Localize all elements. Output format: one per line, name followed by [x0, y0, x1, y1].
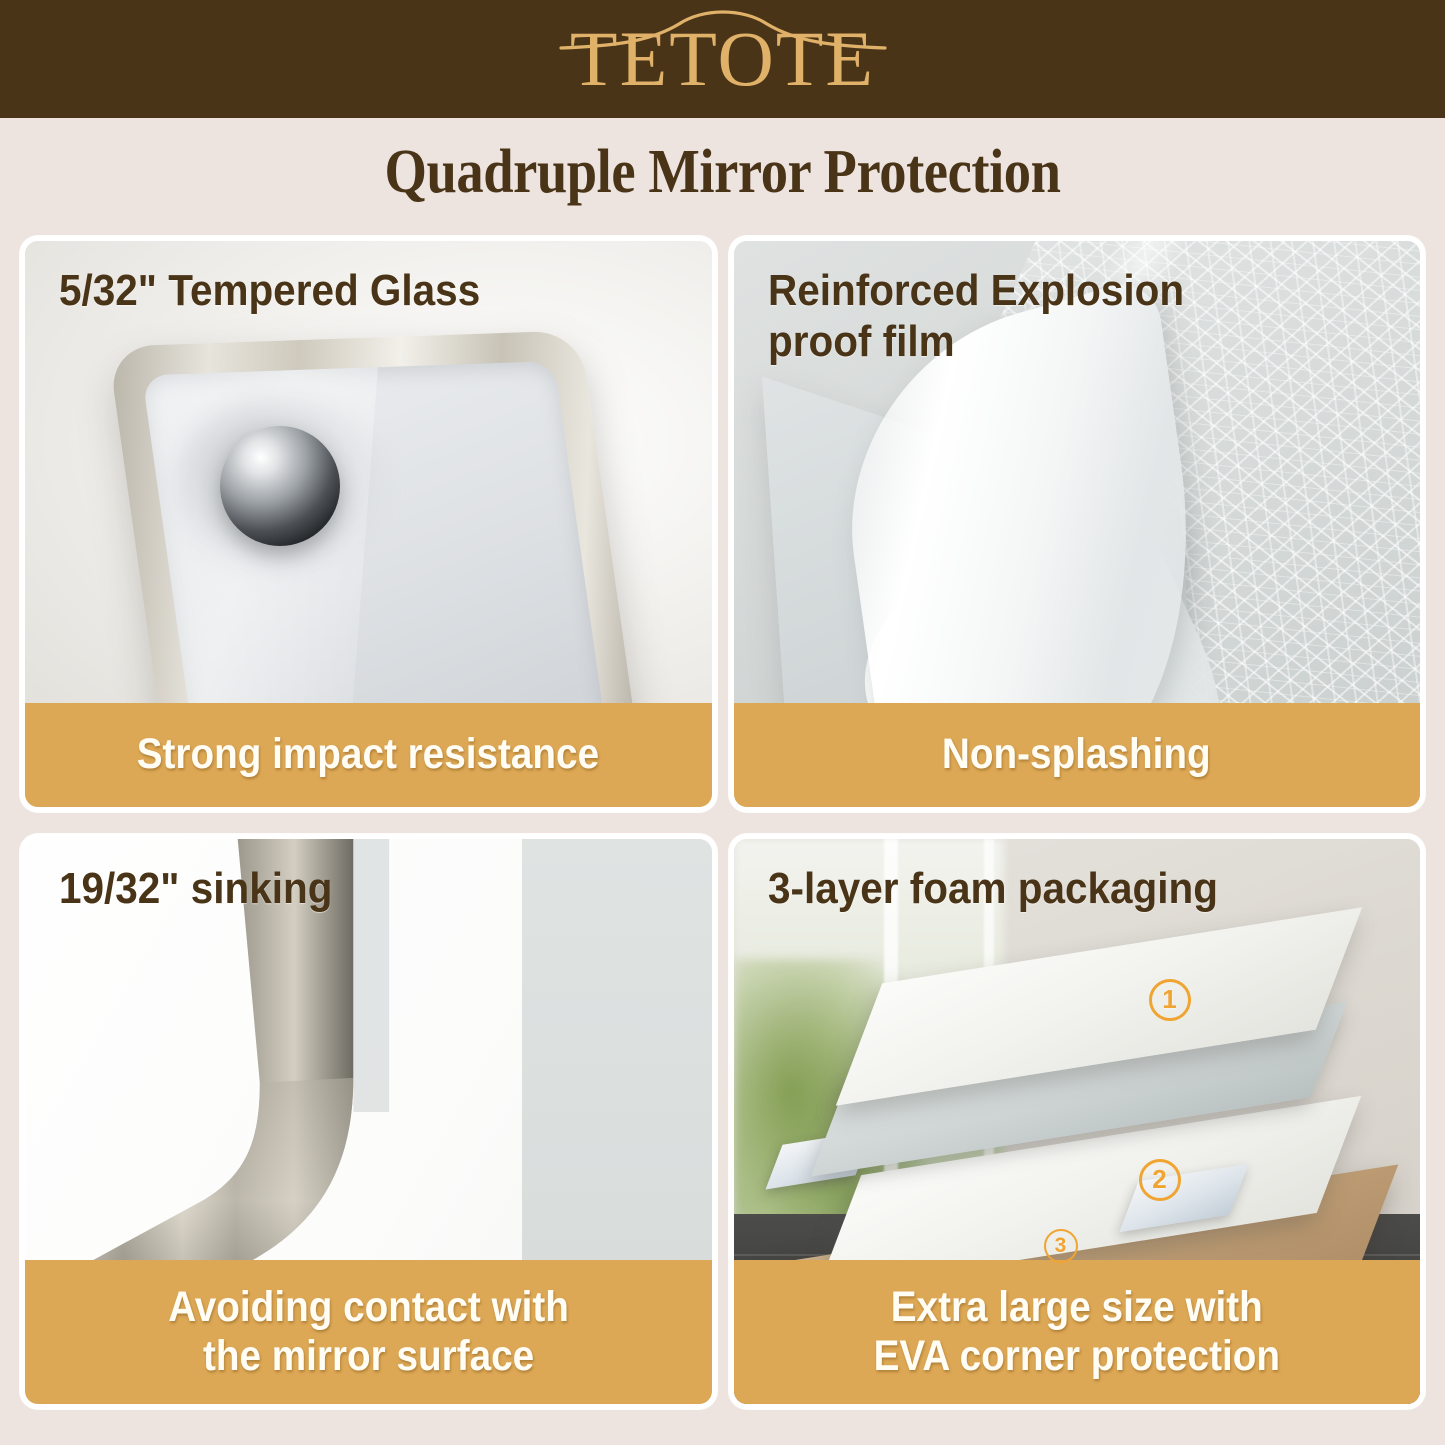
caption-line-1: Extra large size with	[874, 1283, 1280, 1332]
caption-line: Strong impact resistance	[137, 730, 599, 779]
panel-title-explosion-proof-film: Reinforced Explosion proof film	[768, 265, 1184, 367]
panel-caption-explosion-proof-film: Non-splashing	[734, 703, 1421, 807]
caption-line-2: EVA corner protection	[874, 1332, 1280, 1381]
brand-logo: TETOTE	[553, 0, 893, 118]
caption-line-1: Avoiding contact with	[168, 1283, 569, 1332]
panel-explosion-proof-film: Reinforced Explosion proof film Non-spla…	[729, 236, 1426, 812]
layer-badge-3: 3	[1044, 1229, 1078, 1263]
layer-badge-2: 2	[1139, 1159, 1181, 1201]
panel-title-tempered-glass: 5/32" Tempered Glass	[59, 265, 480, 316]
panel-tempered-glass: 5/32" Tempered Glass Strong impact resis…	[20, 236, 717, 812]
panel-caption-sinking-frame: Avoiding contact with the mirror surface	[25, 1260, 712, 1404]
layer-badge-1: 1	[1149, 979, 1191, 1021]
caption-line: Non-splashing	[942, 730, 1211, 779]
panel-title-foam-packaging: 3-layer foam packaging	[768, 863, 1218, 914]
panel-foam-packaging: 1 2 3 3-layer foam packaging Extra large…	[729, 834, 1426, 1410]
panel-caption-tempered-glass: Strong impact resistance	[25, 703, 712, 807]
panel-sinking-frame: 0.6″ 19/32" sinking Avoiding contact wit…	[20, 834, 717, 1410]
panel-title-sinking-frame: 19/32" sinking	[59, 863, 332, 914]
title-line-1: Reinforced Explosion	[768, 266, 1184, 315]
brand-header: TETOTE	[0, 0, 1445, 118]
feature-grid: 5/32" Tempered Glass Strong impact resis…	[20, 236, 1425, 1409]
title-line-2: proof film	[768, 317, 955, 366]
panel-caption-foam-packaging: Extra large size with EVA corner protect…	[734, 1260, 1421, 1404]
page-title: Quadruple Mirror Protection	[87, 137, 1359, 208]
steel-ball-icon	[220, 426, 340, 546]
caption-line-2: the mirror surface	[168, 1332, 569, 1381]
brand-logo-text: TETOTE	[553, 20, 893, 98]
